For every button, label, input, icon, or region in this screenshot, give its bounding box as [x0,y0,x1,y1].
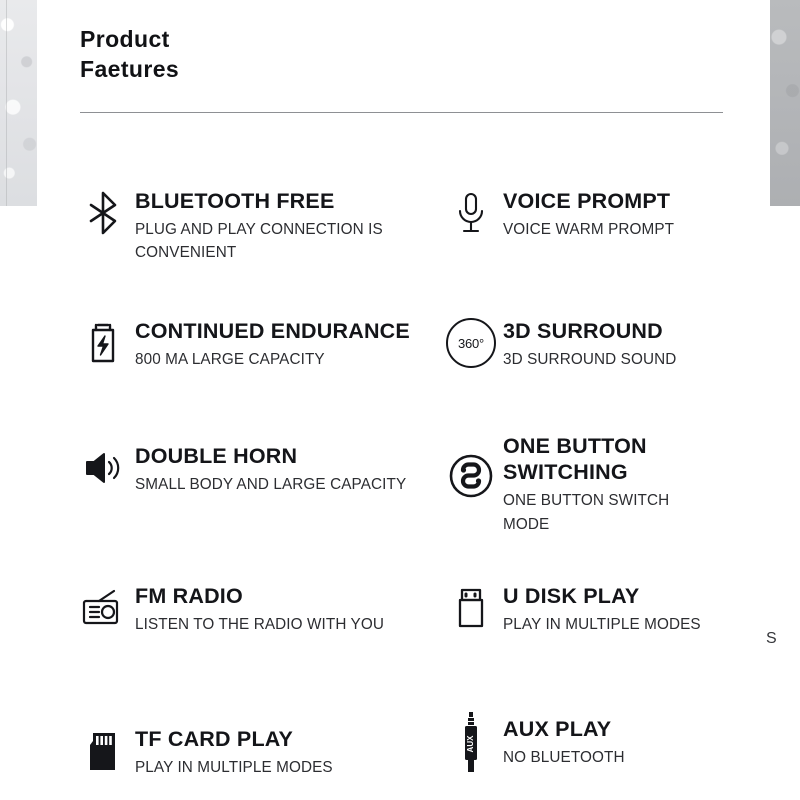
aux-jack-icon: AUX [446,714,496,768]
feature-text: VOICE PROMPT VOICE WARM PROMPT [496,186,674,241]
feature-subtitle: 3D SURROUND SOUND [503,348,676,371]
feature-item-3d-surround: 360° 3D SURROUND 3D SURROUND SOUND [446,316,791,371]
page-title-line-1: Product [80,24,179,54]
feature-subtitle: PLAY IN MULTIPLE MODES [503,613,701,636]
feature-item-aux-play: AUX AUX PLAY NO BLUETOOTH [446,714,791,769]
switch-toggle-icon [446,449,496,503]
feature-text: FM RADIO LISTEN TO THE RADIO WITH YOU [128,581,384,636]
feature-title: 3D SURROUND [503,318,676,344]
speaker-volume-icon [78,441,128,495]
product-features-page: Product Faetures BLUETOOTH FREE PLUG AND… [0,0,800,800]
aux-jack-label: AUX [466,735,475,753]
feature-item-tf-card-play: TF CARD PLAY PLAY IN MULTIPLE MODES [78,724,428,779]
feature-subtitle: SMALL BODY AND LARGE CAPACITY [135,473,406,496]
360-badge-label: 360° [446,318,496,368]
feature-text: BLUETOOTH FREE PLUG AND PLAY CONNECTION … [128,186,383,265]
feature-item-one-button-switching: ONE BUTTON SWITCHING ONE BUTTON SWITCH M… [446,431,791,536]
feature-title: ONE BUTTON SWITCHING [503,433,669,485]
feature-subtitle: ONE BUTTON SWITCH MODE [503,489,669,536]
feature-title: TF CARD PLAY [135,726,333,752]
page-title: Product Faetures [80,24,179,85]
feature-subtitle: VOICE WARM PROMPT [503,218,674,241]
feature-title: CONTINUED ENDURANCE [135,318,410,344]
feature-text: DOUBLE HORN SMALL BODY AND LARGE CAPACIT… [128,441,406,496]
background-texture-left [0,0,37,206]
feature-title: FM RADIO [135,583,384,609]
feature-item-double-horn: DOUBLE HORN SMALL BODY AND LARGE CAPACIT… [78,441,428,496]
bluetooth-icon [78,186,128,240]
feature-title: DOUBLE HORN [135,443,406,469]
clipped-stray-glyph: S [766,630,777,648]
microphone-icon [446,186,496,240]
background-texture-right [770,0,800,206]
radio-icon [78,581,128,635]
title-divider [80,112,723,113]
feature-subtitle: PLUG AND PLAY CONNECTION IS CONVENIENT [135,218,383,265]
feature-title: VOICE PROMPT [503,188,674,214]
page-title-line-2: Faetures [80,54,179,84]
battery-charging-icon [78,316,128,370]
feature-subtitle: LISTEN TO THE RADIO WITH YOU [135,613,384,636]
feature-item-fm-radio: FM RADIO LISTEN TO THE RADIO WITH YOU [78,581,428,636]
feature-item-continued-endurance: CONTINUED ENDURANCE 800 MA LARGE CAPACIT… [78,316,428,371]
feature-text: TF CARD PLAY PLAY IN MULTIPLE MODES [128,724,333,779]
feature-subtitle: NO BLUETOOTH [503,746,625,769]
usb-drive-icon [446,581,496,635]
feature-title: U DISK PLAY [503,583,701,609]
feature-subtitle: 800 MA LARGE CAPACITY [135,348,410,371]
feature-text: U DISK PLAY PLAY IN MULTIPLE MODES [496,581,701,636]
feature-text: 3D SURROUND 3D SURROUND SOUND [496,316,676,371]
feature-text: ONE BUTTON SWITCHING ONE BUTTON SWITCH M… [496,431,669,536]
microsd-card-icon [78,724,128,778]
feature-item-voice-prompt: VOICE PROMPT VOICE WARM PROMPT [446,186,791,241]
360-degree-icon: 360° [446,316,496,370]
feature-subtitle: PLAY IN MULTIPLE MODES [135,756,333,779]
feature-item-u-disk-play: U DISK PLAY PLAY IN MULTIPLE MODES [446,581,791,636]
feature-text: AUX PLAY NO BLUETOOTH [496,714,625,769]
feature-title: AUX PLAY [503,716,625,742]
feature-title: BLUETOOTH FREE [135,188,383,214]
feature-item-bluetooth-free: BLUETOOTH FREE PLUG AND PLAY CONNECTION … [78,186,428,265]
feature-text: CONTINUED ENDURANCE 800 MA LARGE CAPACIT… [128,316,410,371]
